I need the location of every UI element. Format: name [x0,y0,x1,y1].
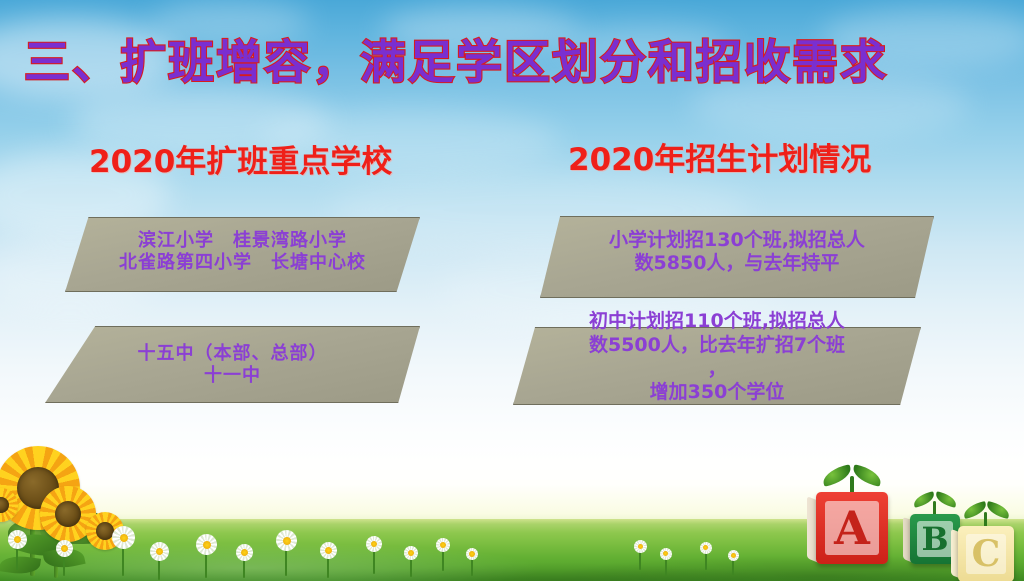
page-title: 三、扩班增容，满足学区划分和招收需求 [24,26,888,92]
daisy-stem [471,558,473,576]
block-front-face: A [816,492,888,564]
daisy-field-group [0,500,780,581]
abc-blocks-group: A B C [806,466,1024,581]
content-box-text: 小学计划招130个班,拟招总人 数5850人，与去年持平 [540,229,934,275]
daisy-center [61,545,68,552]
daisy-stem [442,549,444,571]
daisy-center [638,544,643,549]
daisy-center [469,551,475,557]
content-box-text: 十五中（本部、总部） 十一中 [45,343,420,387]
content-box-primary-plan: 小学计划招130个班,拟招总人 数5850人，与去年持平 [540,216,934,298]
block-front-face: C [958,526,1014,581]
daisy-center [408,550,414,556]
block-letter: C [972,536,1001,572]
slide-canvas: A B C 三、扩班增容，满足学区划分和招收需求 [0,0,1024,581]
daisy-center [371,541,377,547]
daisy-center [14,536,21,543]
content-box-expansion-schools: 滨江小学 桂景湾路小学 北雀路第四小学 长塘中心校 [65,217,420,292]
daisy-center [203,541,211,549]
content-box-junior-plan-text: 初中计划招110个班,拟招总人 数5500人，比去年扩招7个班 ， 增加350个… [513,310,921,405]
daisy-stem [732,559,734,575]
daisy-stem [639,550,641,570]
daisy-center [440,542,446,548]
sprout-leaf [851,464,884,487]
block-letter: B [921,523,948,555]
sprout-leaf [985,501,1011,519]
daisy-stem [665,558,667,576]
daisy-center [120,534,128,542]
sprout-leaf [821,464,854,487]
sprout-leaf [934,491,958,508]
section-heading-left: 2020年扩班重点学校 [89,136,392,181]
content-box-middle-schools: 十五中（本部、总部） 十一中 [45,326,420,403]
daisy-center [703,545,708,550]
content-box-text: 滨江小学 桂景湾路小学 北雀路第四小学 长塘中心校 [65,230,420,274]
daisy-center [325,547,332,554]
section-heading-right: 2020年招生计划情况 [568,134,871,179]
daisy-stem [410,557,412,577]
daisy-stem [705,552,707,570]
block-letter: A [834,505,870,551]
daisy-center [731,553,736,558]
daisy-center [156,548,163,555]
daisy-center [283,537,291,545]
daisy-center [241,549,248,556]
daisy-center [663,551,668,556]
